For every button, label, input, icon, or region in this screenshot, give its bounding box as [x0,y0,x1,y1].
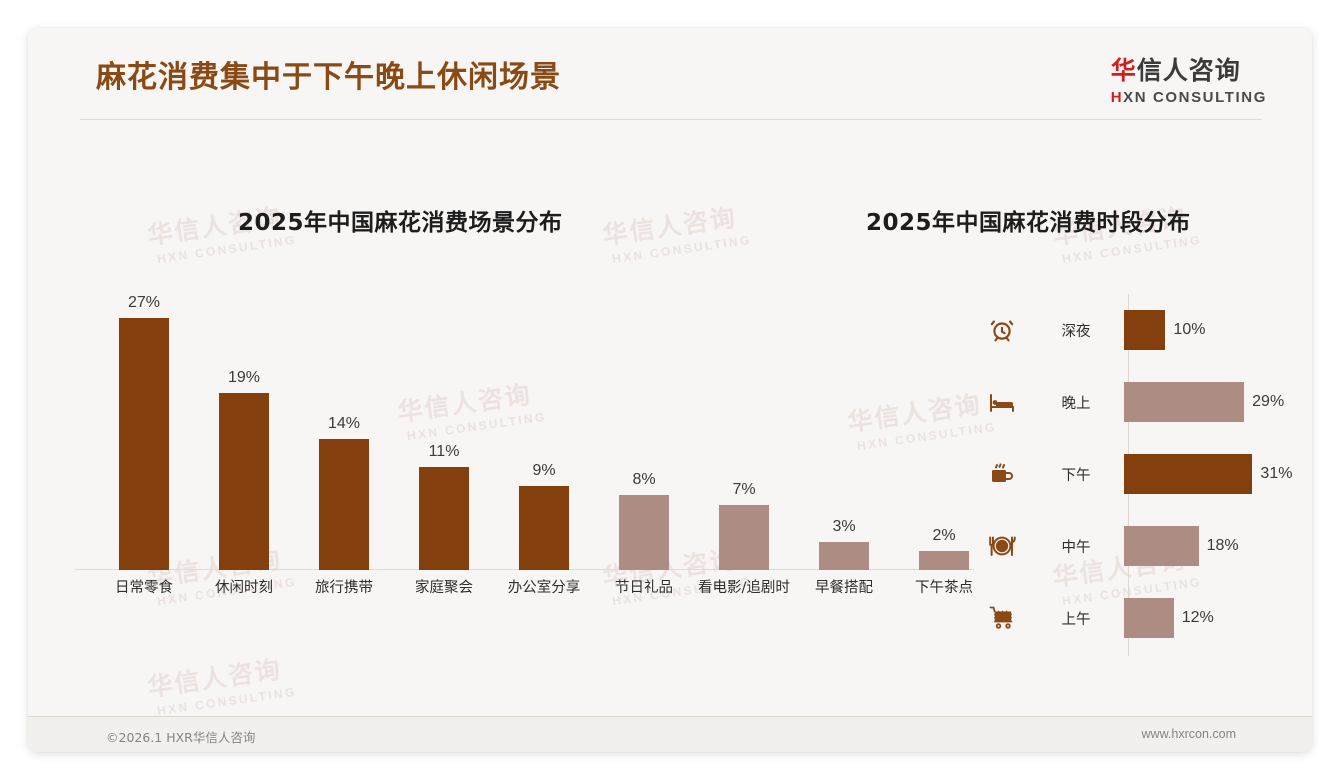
timeslot-category-label: 中午 [1028,536,1124,557]
plate-cutlery-icon [976,534,1028,558]
column-value-label: 27% [128,294,160,312]
timeslot-category-label: 深夜 [1028,320,1124,341]
column-bar[interactable] [519,486,569,570]
brand-logo: 华信人咨询 HXN CONSULTING [1111,58,1267,105]
column-plot-area: 27%19%14%11%9%8%7%3%2% [74,290,974,570]
column-bar-group[interactable]: 8% [594,290,694,570]
column-bar-group[interactable]: 19% [194,290,294,570]
timeslot-row[interactable]: 上午12% [976,582,1276,654]
timeslot-value-label: 10% [1173,321,1205,339]
slide-header: 麻花消费集中于下午晚上休闲场景 华信人咨询 HXN CONSULTING [28,28,1312,118]
timeslot-bar[interactable] [1124,310,1165,350]
watermark-text-en: HXN CONSULTING [611,233,752,266]
alarm-clock-icon [976,317,1028,343]
timeslot-value-label: 12% [1182,609,1214,627]
timeslot-distribution-chart: 深夜10%晚上29%下午31%中午18%上午12% [976,294,1276,656]
bed-icon [976,391,1028,413]
column-bar-group[interactable]: 3% [794,290,894,570]
logo-english-rest: XN CONSULTING [1123,89,1267,106]
footer-website[interactable]: www.hxrcon.com [1142,727,1236,741]
logo-accent-char: 华 [1111,56,1137,85]
column-bar-group[interactable]: 27% [94,290,194,570]
timeslot-bar[interactable] [1124,454,1252,494]
column-bar-group[interactable]: 9% [494,290,594,570]
column-bar[interactable] [219,393,269,570]
left-chart-heading: 2025年中国麻花消费场景分布 [238,203,563,237]
column-value-label: 7% [732,481,755,499]
timeslot-category-label: 下午 [1028,464,1124,485]
timeslot-bar-track: 31% [1124,438,1292,510]
page-title: 麻花消费集中于下午晚上休闲场景 [96,52,561,96]
column-value-label: 2% [932,527,955,545]
column-value-label: 9% [532,462,555,480]
slide-card: 华信人咨询 HXN CONSULTING 华信人咨询 HXN CONSULTIN… [28,28,1312,752]
timeslot-bar-track: 12% [1124,582,1276,654]
column-value-label: 14% [328,415,360,433]
logo-chinese-rest: 信人咨询 [1137,56,1241,85]
watermark-text-en: HXN CONSULTING [1061,233,1202,266]
timeslot-bar-track: 29% [1124,366,1284,438]
timeslot-bar[interactable] [1124,382,1244,422]
column-bar-group[interactable]: 7% [694,290,794,570]
timeslot-category-label: 晚上 [1028,392,1124,413]
timeslot-category-label: 上午 [1028,608,1124,629]
column-bar[interactable] [319,439,369,570]
column-value-label: 19% [228,369,260,387]
column-bar[interactable] [719,505,769,570]
logo-chinese-text: 华信人咨询 [1111,58,1267,83]
timeslot-bar-track: 10% [1124,294,1276,366]
timeslot-row[interactable]: 下午31% [976,438,1276,510]
timeslot-value-label: 29% [1252,393,1284,411]
watermark-text-cn: 华信人咨询 [600,196,750,252]
column-bar[interactable] [119,318,169,570]
footer-copyright: ©2026.1 HXR华信人咨询 [106,727,255,746]
timeslot-value-label: 18% [1207,537,1239,555]
column-bar[interactable] [819,542,869,570]
right-chart-heading: 2025年中国麻花消费时段分布 [866,203,1191,237]
header-divider [80,119,1262,120]
timeslot-bar-track: 18% [1124,510,1276,582]
column-bar[interactable] [619,495,669,570]
column-value-label: 8% [632,471,655,489]
column-value-label: 3% [832,518,855,536]
scene-distribution-chart: 27%19%14%11%9%8%7%3%2% 日常零食休闲时刻旅行携带家庭聚会办… [74,290,974,590]
watermark-text-en: HXN CONSULTING [156,233,297,266]
column-bar[interactable] [919,551,969,570]
slide-footer: ©2026.1 HXR华信人咨询 www.hxrcon.com [28,716,1312,752]
watermark-text-cn: 华信人咨询 [145,648,295,704]
coffee-mug-icon [976,461,1028,487]
column-bar-group[interactable]: 14% [294,290,394,570]
timeslot-row[interactable]: 中午18% [976,510,1276,582]
column-category-labels: 日常零食休闲时刻旅行携带家庭聚会办公室分享节日礼品看电影/追剧时早餐搭配下午茶点 [74,576,974,606]
timeslot-row[interactable]: 深夜10% [976,294,1276,366]
timeslot-bar[interactable] [1124,526,1199,566]
shopping-cart-icon [976,605,1028,631]
timeslot-value-label: 31% [1260,465,1292,483]
timeslot-row[interactable]: 晚上29% [976,366,1276,438]
logo-english-text: HXN CONSULTING [1111,90,1267,105]
logo-en-accent-char: H [1111,89,1123,106]
timeslot-bar[interactable] [1124,598,1174,638]
column-bar[interactable] [419,467,469,570]
column-bar-group[interactable]: 11% [394,290,494,570]
column-value-label: 11% [429,443,460,461]
